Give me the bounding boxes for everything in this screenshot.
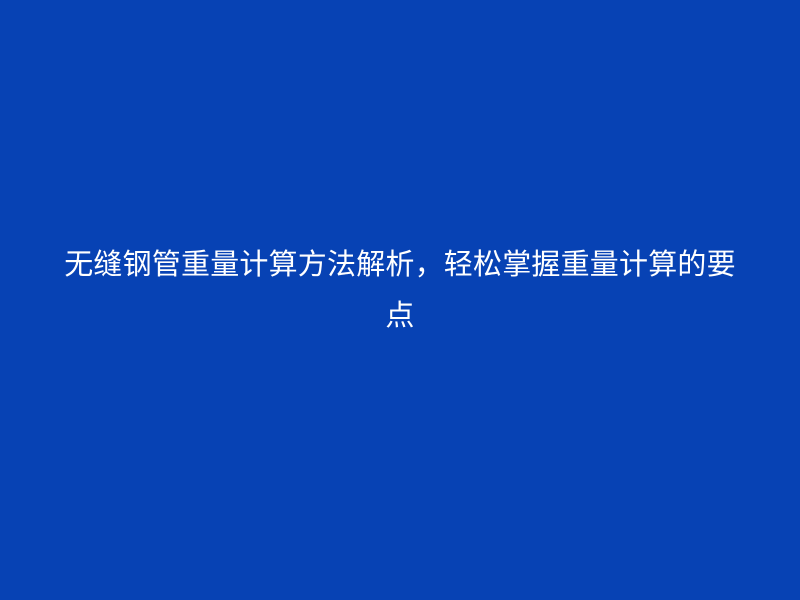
page-title: 无缝钢管重量计算方法解析，轻松掌握重量计算的要点	[50, 240, 750, 342]
title-card-canvas: 无缝钢管重量计算方法解析，轻松掌握重量计算的要点	[0, 0, 800, 600]
title-block: 无缝钢管重量计算方法解析，轻松掌握重量计算的要点	[50, 240, 750, 342]
